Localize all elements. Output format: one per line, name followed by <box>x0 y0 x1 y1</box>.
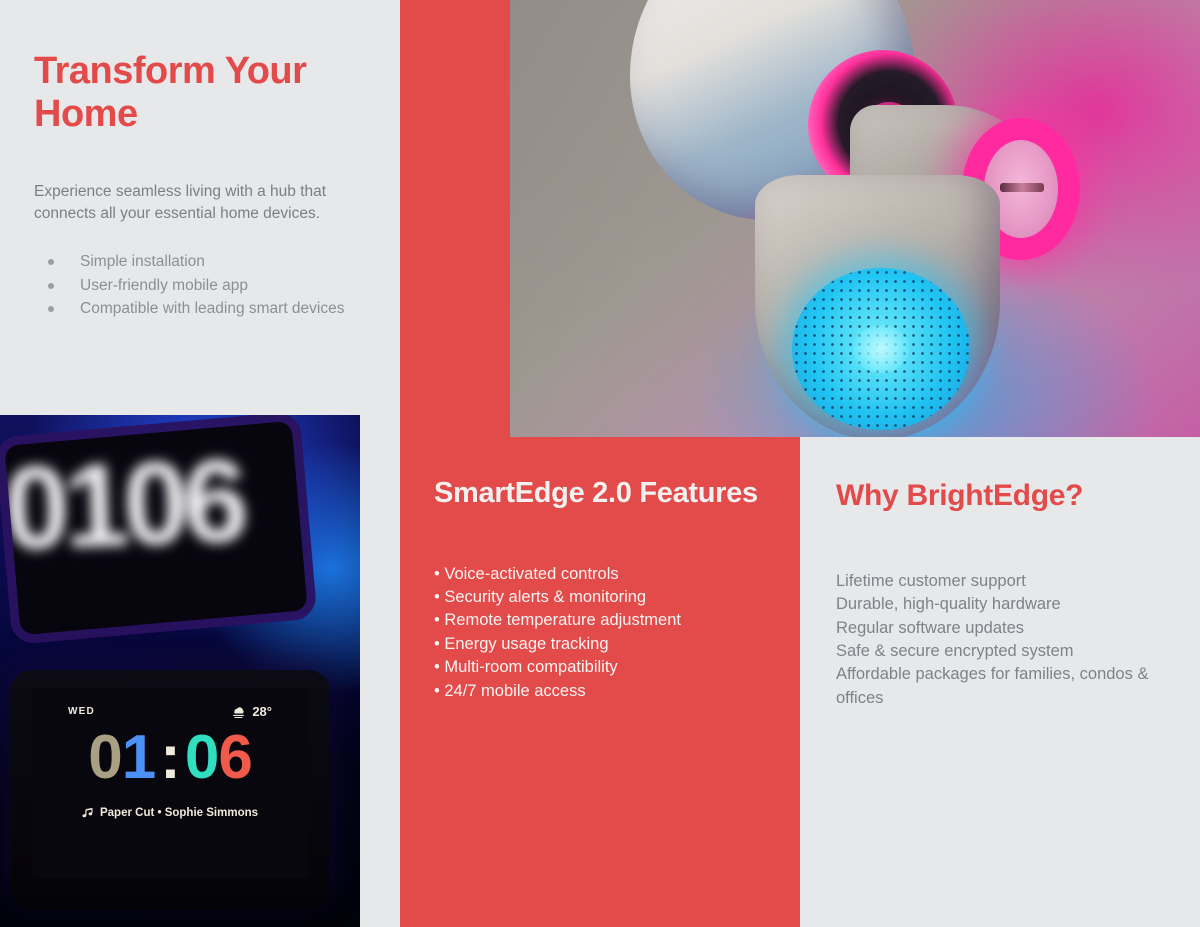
list-item: Safe & secure encrypted system <box>836 640 1164 663</box>
features-list: • Voice-activated controls • Security al… <box>434 563 766 704</box>
plug-contact-icon <box>1000 183 1044 192</box>
why-panel: Why BrightEdge? Lifetime customer suppor… <box>800 437 1200 927</box>
blurred-clock-digits: 0106 <box>4 440 306 568</box>
intro-bullet-list: Simple installation User-friendly mobile… <box>34 251 366 320</box>
clock-minute-tens: 0 <box>185 727 218 789</box>
list-item: • 24/7 mobile access <box>434 680 766 703</box>
clock-display: WED 28° 0 1 : 0 6 <box>32 688 308 878</box>
clock-status-row: WED 28° <box>46 704 294 719</box>
smart-clock-image: 0106 WED 28° 0 1 <box>0 415 360 927</box>
list-item: Affordable packages for families, condos… <box>836 663 1164 710</box>
list-item: • Multi-room compatibility <box>434 656 766 679</box>
clock-temperature: 28° <box>252 704 272 719</box>
list-item: Regular software updates <box>836 617 1164 640</box>
speaker-grille-icon <box>792 268 970 430</box>
bullet-dot-icon <box>48 306 54 312</box>
list-item: Lifetime customer support <box>836 570 1164 593</box>
clock-minute-ones: 6 <box>218 727 251 789</box>
clock-weather: 28° <box>230 704 272 719</box>
bullet-dot-icon <box>48 259 54 265</box>
clock-now-playing: Paper Cut • Sophie Simmons <box>46 807 294 819</box>
why-list: Lifetime customer support Durable, high-… <box>836 570 1164 711</box>
clock-device-body: WED 28° 0 1 : 0 6 <box>10 670 330 910</box>
clock-track-label: Paper Cut • Sophie Simmons <box>100 807 258 819</box>
clock-hour-tens: 0 <box>88 727 121 789</box>
list-item-label: Compatible with leading smart devices <box>80 300 344 317</box>
music-note-icon <box>82 807 94 819</box>
intro-panel: Transform Your Home Experience seamless … <box>0 0 400 415</box>
features-title: SmartEdge 2.0 Features <box>434 477 766 511</box>
list-item: • Energy usage tracking <box>434 633 766 656</box>
page-title: Transform Your Home <box>34 50 366 135</box>
poster-canvas: Transform Your Home Experience seamless … <box>0 0 1200 927</box>
list-item: User-friendly mobile app <box>34 275 366 297</box>
bullet-dot-icon <box>48 283 54 289</box>
features-panel: SmartEdge 2.0 Features • Voice-activated… <box>400 437 800 927</box>
why-title: Why BrightEdge? <box>836 479 1164 514</box>
clock-hour-ones: 1 <box>122 727 155 789</box>
clock-separator: : <box>155 727 185 789</box>
cloud-rain-icon <box>230 704 247 719</box>
list-item-label: Simple installation <box>80 253 205 270</box>
list-item: Compatible with leading smart devices <box>34 298 366 320</box>
clock-time: 0 1 : 0 6 <box>46 727 294 789</box>
list-item: Durable, high-quality hardware <box>836 593 1164 616</box>
list-item-label: User-friendly mobile app <box>80 277 248 294</box>
intro-paragraph: Experience seamless living with a hub th… <box>34 181 366 225</box>
lower-gray-gutter <box>360 415 400 927</box>
list-item: • Remote temperature adjustment <box>434 609 766 632</box>
blurred-clock-screen: 0106 <box>4 421 307 635</box>
hero-image <box>510 0 1200 437</box>
list-item: • Security alerts & monitoring <box>434 586 766 609</box>
clock-day-label: WED <box>68 706 95 717</box>
speaker-center-glow <box>853 325 909 373</box>
list-item: • Voice-activated controls <box>434 563 766 586</box>
list-item: Simple installation <box>34 251 366 273</box>
